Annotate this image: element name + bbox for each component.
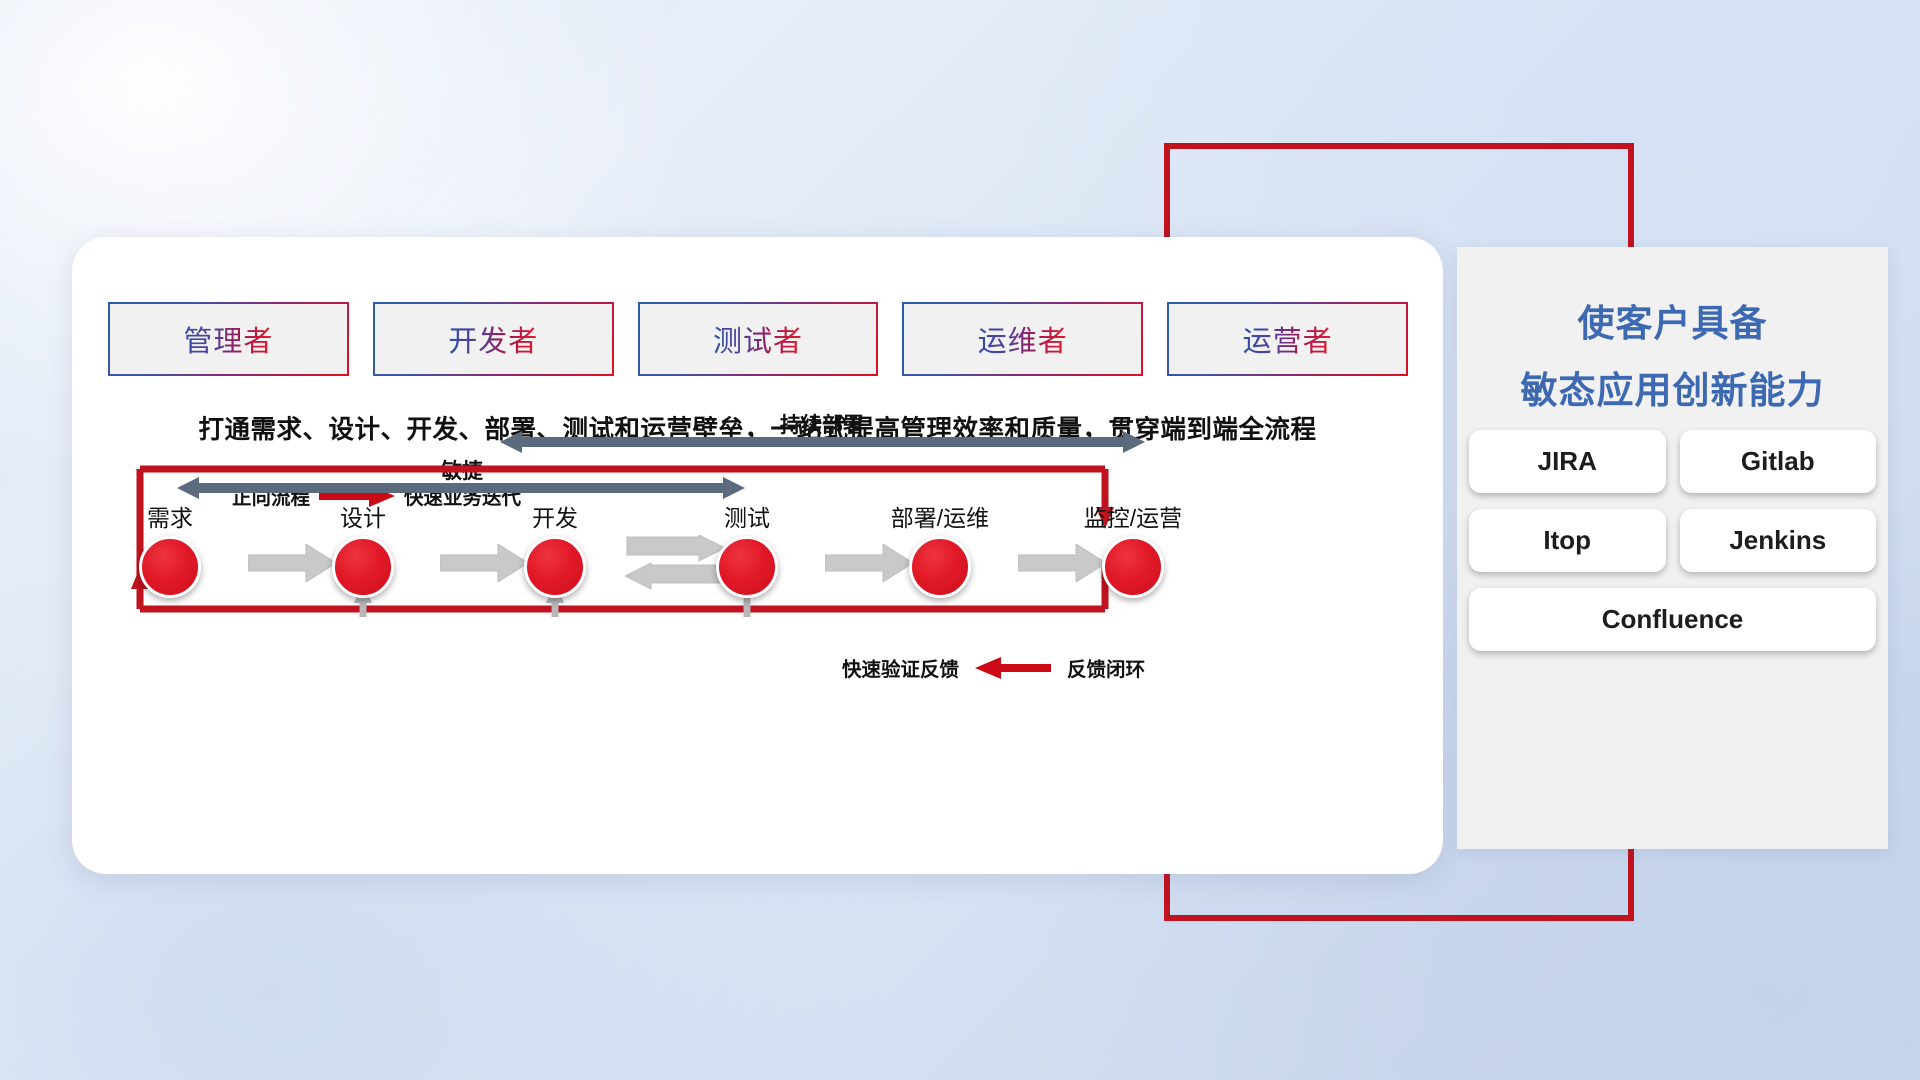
role-label: 开发者 [448, 318, 538, 360]
stage-monitor-operations[interactable]: 监控/运营 [1073, 499, 1193, 598]
tool-chip-label: JIRA [1538, 446, 1597, 477]
stage-testing[interactable]: 测试 [687, 499, 807, 598]
legend-feedback-loop: 快速验证反馈 反馈闭环 [842, 653, 1145, 682]
stage-label: 测试 [687, 499, 807, 533]
role-label: 运维者 [978, 318, 1068, 360]
tool-chip-jira[interactable]: JIRA [1469, 430, 1666, 493]
tool-chip-label: Gitlab [1741, 446, 1815, 477]
legend-feedback-left-label: 快速验证反馈 [842, 653, 959, 682]
stage-label: 监控/运营 [1073, 499, 1193, 533]
tool-chip-label: Jenkins [1729, 525, 1826, 556]
capability-panel: 使客户具备 敏态应用创新能力 JIRA Gitlab Itop Jenkins … [1457, 247, 1888, 849]
stage-label: 设计 [303, 499, 423, 533]
stage-dot [716, 536, 778, 598]
stage-development[interactable]: 开发 [495, 499, 615, 598]
pipeline-row: 需求 设计 开发 [110, 499, 1200, 619]
stage-label: 开发 [495, 499, 615, 533]
tool-chip-gitlab[interactable]: Gitlab [1680, 430, 1877, 493]
panel-title-line1: 使客户具备 [1457, 293, 1888, 347]
legend-feedback-right-label: 反馈闭环 [1067, 653, 1145, 682]
stage-dot [1102, 536, 1164, 598]
stage-deploy-ops[interactable]: 部署/运维 [880, 499, 1000, 598]
main-content-card: 管理者 开发者 测试者 运维者 运营者 打通需求、设计、开发、部署、测试和运营壁… [72, 237, 1443, 874]
stage-dot [909, 536, 971, 598]
stage-label: 部署/运维 [880, 499, 1000, 533]
bracket-bottom-segment [1164, 915, 1634, 921]
role-label: 管理者 [183, 318, 273, 360]
tool-chip-confluence[interactable]: Confluence [1469, 588, 1876, 651]
stage-label: 需求 [110, 499, 230, 533]
tool-chip-jenkins[interactable]: Jenkins [1680, 509, 1877, 572]
slide-canvas: 管理者 开发者 测试者 运维者 运营者 打通需求、设计、开发、部署、测试和运营壁… [0, 0, 1920, 1080]
bracket-top-segment [1164, 143, 1634, 149]
stage-dot [332, 536, 394, 598]
stage-dot [524, 536, 586, 598]
tool-chip-label: Confluence [1602, 604, 1744, 635]
stage-design[interactable]: 设计 [303, 499, 423, 598]
role-label: 运营者 [1243, 318, 1333, 360]
stage-dot [139, 536, 201, 598]
red-left-arrow-icon [975, 657, 1051, 679]
stage-requirement[interactable]: 需求 [110, 499, 230, 598]
tool-chip-grid: JIRA Gitlab Itop Jenkins Confluence [1469, 430, 1876, 651]
tool-chip-label: Itop [1543, 525, 1591, 556]
tool-chip-itop[interactable]: Itop [1469, 509, 1666, 572]
panel-title-line2: 敏态应用创新能力 [1457, 360, 1888, 414]
role-label: 测试者 [713, 318, 803, 360]
